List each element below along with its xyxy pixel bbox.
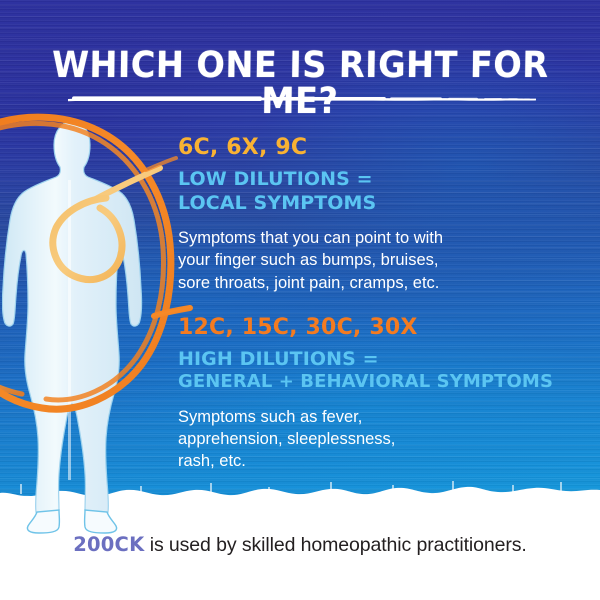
infographic-poster: WHICH ONE IS RIGHT FOR ME? 6C, 6X, 9C LO… [0,0,600,600]
dose-label-high: 12C, 15C, 30C, 30X [178,316,582,341]
footer-dose-label: 200CK [73,533,144,556]
subheading-high-line2: GENERAL + BEHAVIORAL SYMPTOMS [178,372,582,393]
footer-note: 200CK is used by skilled homeopathic pra… [0,533,600,557]
subheading-low-line1: LOW DILUTIONS = [178,168,582,190]
page-title: WHICH ONE IS RIGHT FOR ME? [21,48,580,120]
subheading-low-line2: LOCAL SYMPTOMS [178,192,582,214]
content-column: 6C, 6X, 9C LOW DILUTIONS = LOCAL SYMPTOM… [178,136,582,473]
section-high-dilutions: 12C, 15C, 30C, 30X HIGH DILUTIONS = GENE… [178,316,582,473]
footer-note-text: is used by skilled homeopathic practitio… [144,534,526,556]
body-text-high: Symptoms such as fever, apprehension, sl… [178,406,582,473]
dose-label-low: 6C, 6X, 9C [178,136,582,161]
section-low-dilutions: 6C, 6X, 9C LOW DILUTIONS = LOCAL SYMPTOM… [178,136,582,294]
subheading-high-line1: HIGH DILUTIONS = [178,348,582,370]
body-text-low: Symptoms that you can point to with your… [178,227,582,294]
